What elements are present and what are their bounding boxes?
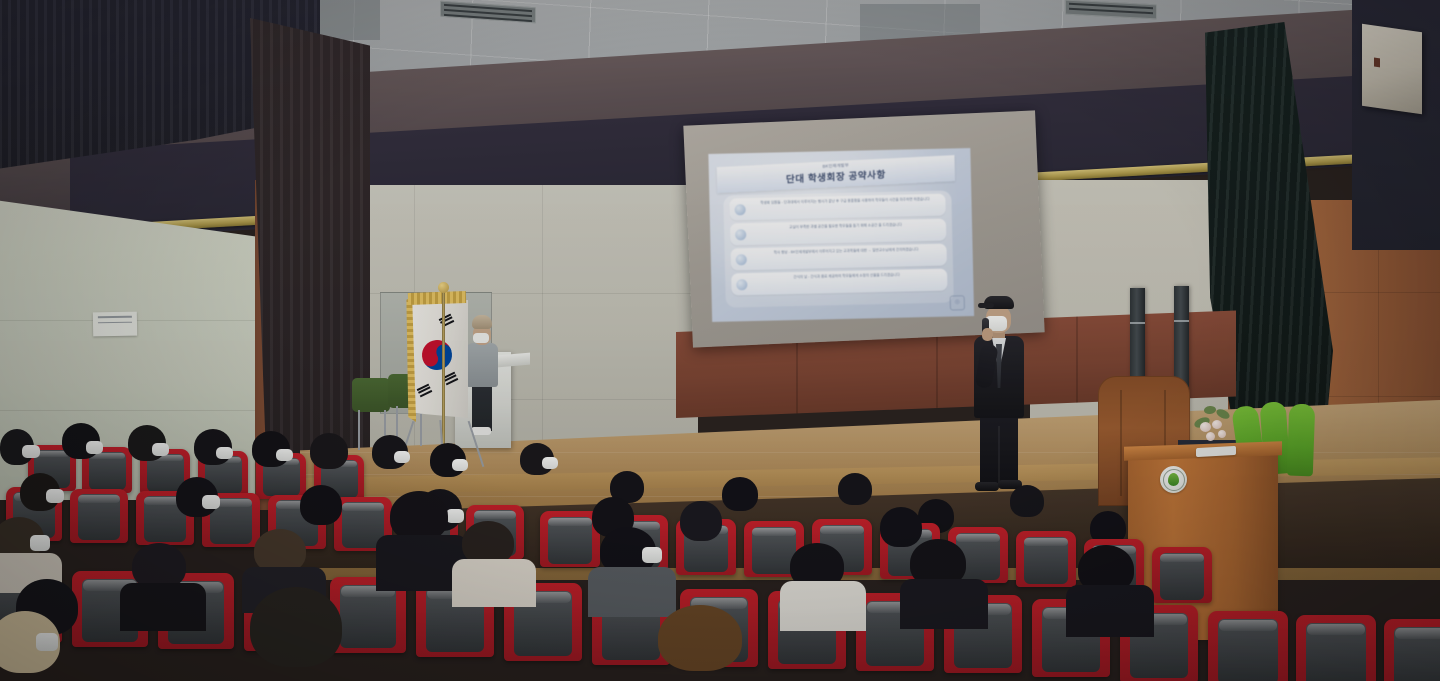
staff-hoodie — [466, 343, 498, 387]
bullet-dot-icon — [735, 229, 746, 240]
seat — [1208, 611, 1288, 681]
bullet-text: 학사 향상 - BK인재개발부에서 이루어지고 있는 교과목들에 대한 → 일반… — [751, 247, 942, 257]
list-item: 학사 향상 - BK인재개발부에서 이루어지고 있는 교과목들에 대한 → 일반… — [731, 244, 947, 271]
list-item: 교실이 부족한 과별 공간을 필요한 학우들을 돕기 위해 소공간 을 드리겠습… — [730, 219, 946, 246]
presentation-slide: BK인재개발부 단대 학생회장 공약사항 학생회 임원들 - 단과대에서 이루어… — [708, 148, 974, 322]
face-mask-icon — [276, 449, 293, 461]
bullet-dot-icon — [736, 254, 747, 265]
face-mask-icon — [22, 445, 40, 458]
bullet-dot-icon — [735, 204, 746, 215]
seat — [1384, 619, 1440, 681]
attendee-shoulders — [900, 579, 988, 629]
attendee-head — [300, 485, 342, 525]
list-item: 학생회 임원들 - 단과대에서 이루어지는 행사가 끝난 후 구급 용품함을 사… — [729, 194, 945, 221]
face-mask-icon — [86, 441, 103, 454]
face-mask-icon — [446, 509, 464, 523]
bullet-text: 간식의 날 - 간식과 음료 제공하여 학우들에게 소정의 선물을 드리겠습니다 — [751, 272, 942, 282]
face-mask-icon — [152, 443, 169, 456]
face-mask-icon — [642, 547, 662, 563]
attendee-shoulders — [780, 581, 866, 631]
face-mask-icon — [216, 447, 233, 459]
list-item: 간식의 날 - 간식과 음료 제공하여 학우들에게 소정의 선물을 드리겠습니다 — [731, 269, 947, 296]
attendee-shoulders — [120, 583, 206, 631]
bullet-text: 교실이 부족한 과별 공간을 필요한 학우들을 돕기 위해 소공간 을 드리겠습… — [750, 222, 941, 232]
attendee-head — [310, 433, 348, 469]
beanie-icon — [472, 315, 492, 329]
attendee-head — [250, 587, 342, 667]
seat — [1296, 615, 1376, 681]
face-mask-icon — [452, 459, 468, 471]
attendee-head — [1010, 485, 1044, 517]
attendee-shoulders — [588, 567, 676, 617]
seat — [70, 489, 128, 543]
seat — [540, 511, 600, 567]
auditorium-photo: BK인재개발부 단대 학생회장 공약사항 학생회 임원들 - 단과대에서 이루어… — [0, 0, 1440, 681]
flag-finial-icon — [438, 282, 449, 293]
attendee-head — [658, 605, 742, 671]
seat — [1016, 531, 1076, 587]
face-mask-icon — [473, 333, 489, 343]
trigram-gam-icon — [443, 372, 459, 386]
presenter-hand — [982, 328, 993, 341]
attendee-head — [838, 473, 872, 505]
wall-notice — [93, 312, 137, 337]
bullet-text: 학생회 임원들 - 단과대에서 이루어지는 행사가 끝난 후 구급 용품함을 사… — [749, 197, 940, 207]
attendee-shoulders — [1066, 585, 1154, 637]
flag-fringe-top — [408, 291, 466, 305]
green-chair — [352, 378, 390, 412]
slide-body: 학생회 임원들 - 단과대에서 이루어지는 행사가 끝난 후 구급 용품함을 사… — [723, 190, 953, 307]
face-mask-icon — [394, 451, 410, 463]
attendee-head — [680, 501, 722, 541]
flat-cap-icon — [984, 296, 1014, 309]
face-mask-icon — [46, 489, 64, 503]
seat — [1152, 547, 1212, 603]
taeguk-symbol-icon — [417, 335, 458, 376]
korean-flag — [410, 300, 468, 418]
trigram-gon-icon — [417, 384, 433, 398]
wall-speaker-icon — [1362, 24, 1422, 114]
attendee-head — [722, 477, 758, 511]
audience-seating — [0, 415, 1440, 681]
attendee-head — [390, 491, 448, 541]
attendee-head — [880, 507, 922, 547]
attendee-shoulders — [452, 559, 536, 607]
face-mask-icon — [30, 535, 50, 551]
face-mask-icon — [202, 495, 220, 509]
slide-logo-icon: ◎ — [950, 295, 965, 310]
bullet-dot-icon — [736, 279, 747, 290]
face-mask-icon — [36, 633, 58, 651]
face-mask-icon — [542, 457, 558, 469]
